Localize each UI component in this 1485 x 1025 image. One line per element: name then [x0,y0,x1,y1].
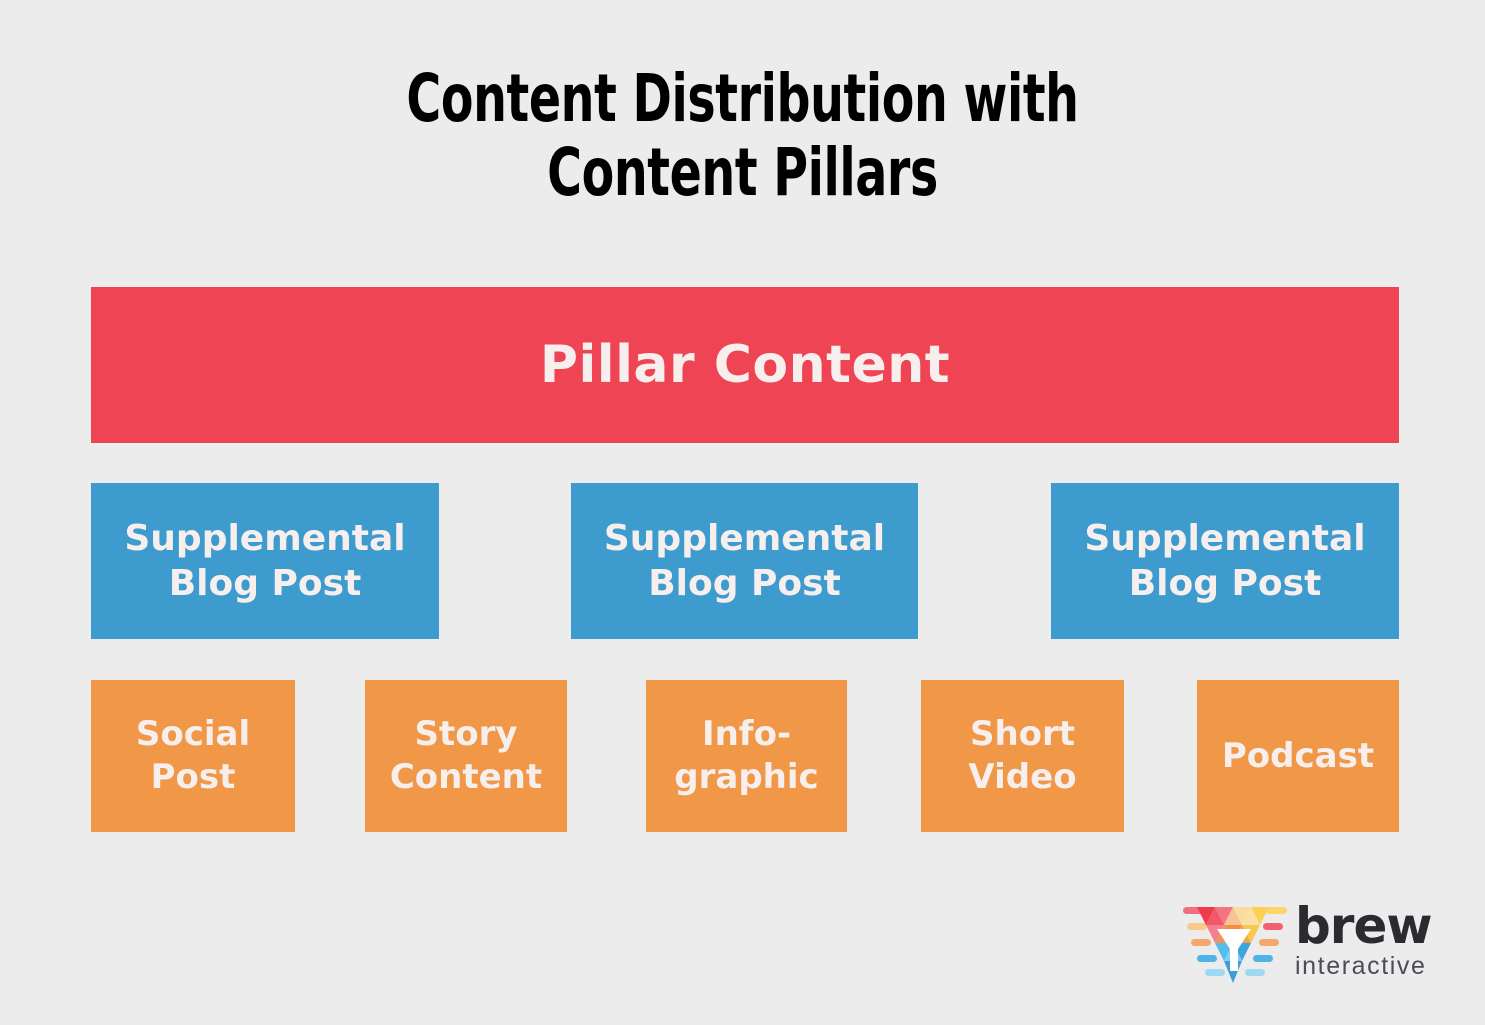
channel-label-social-post: Social Post [136,713,250,799]
channel-box-short-video[interactable]: Short Video [921,680,1124,832]
channel-label-podcast: Podcast [1222,735,1374,778]
page-title: Content Distribution with Content Pillar… [149,62,1337,210]
channel-box-social-post[interactable]: Social Post [91,680,295,832]
pillar-content-label: Pillar Content [540,337,950,393]
supplemental-blog-post-label-1: Supplemental Blog Post [124,516,405,606]
supplemental-blog-post-label-2: Supplemental Blog Post [604,516,885,606]
slide-canvas: Content Distribution with Content Pillar… [0,0,1485,1025]
logo-brand-text: brew [1295,901,1445,951]
channel-label-infographic: Info- graphic [674,713,818,799]
channel-label-short-video: Short Video [968,713,1076,799]
title-line-1: Content Distribution with [149,62,1337,136]
brew-interactive-logo: brew interactive [1183,897,1445,997]
channel-box-infographic[interactable]: Info- graphic [646,680,847,832]
supplemental-blog-post-box-2[interactable]: Supplemental Blog Post [571,483,918,639]
logo-wordmark: brew interactive [1295,901,1445,980]
title-line-2: Content Pillars [149,136,1337,210]
pillar-content-box[interactable]: Pillar Content [91,287,1399,443]
logo-tagline-text: interactive [1295,953,1445,980]
brew-funnel-icon [1183,899,1287,991]
channel-box-podcast[interactable]: Podcast [1197,680,1399,832]
supplemental-blog-post-label-3: Supplemental Blog Post [1084,516,1365,606]
channel-box-story-content[interactable]: Story Content [365,680,567,832]
channel-label-story-content: Story Content [390,713,542,799]
supplemental-blog-post-box-3[interactable]: Supplemental Blog Post [1051,483,1399,639]
supplemental-blog-post-box-1[interactable]: Supplemental Blog Post [91,483,439,639]
